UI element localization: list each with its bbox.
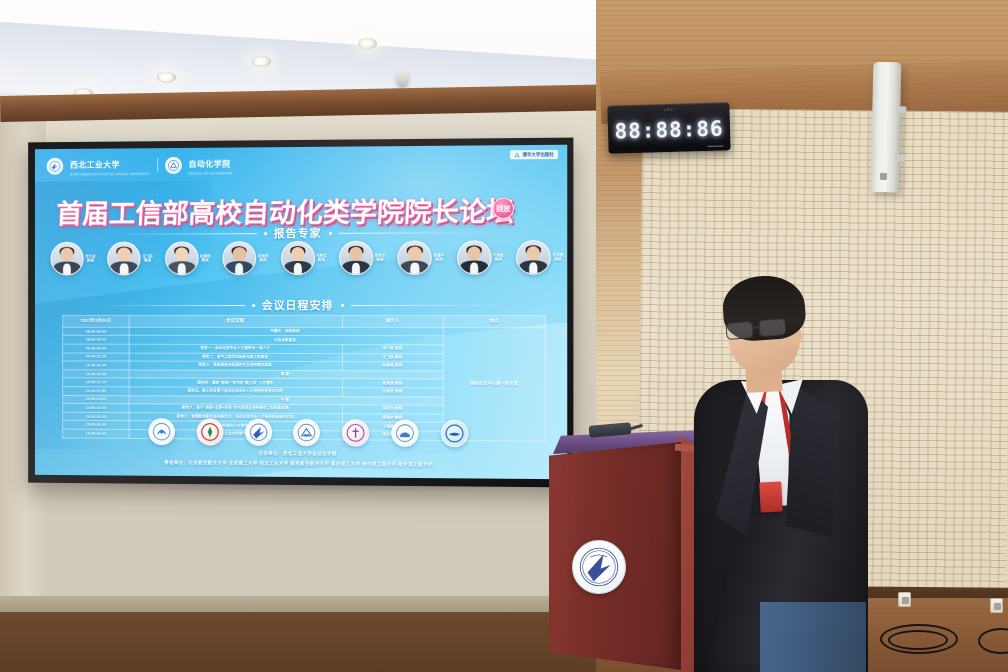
cell-time: 10:50-11:20 xyxy=(63,378,130,387)
person-badge xyxy=(759,481,783,512)
power-outlet-icon xyxy=(898,592,911,607)
divider-right xyxy=(351,304,503,305)
lens-left xyxy=(725,321,753,340)
cell-time: 11:20-11:50 xyxy=(63,387,130,396)
cell-host: 刘艳军 教授 xyxy=(342,388,443,397)
school-name-block: 自动化学院 SCHOOL OF AUTOMATION xyxy=(189,154,233,176)
divider-dot xyxy=(264,232,267,235)
divider-left xyxy=(109,233,257,235)
speaker-item: 段海滨 教授 xyxy=(223,241,270,275)
speaker-name: 刘艳军 教授 xyxy=(315,254,327,263)
divider-left xyxy=(97,305,245,306)
cell-host: 段海滨 教授 xyxy=(342,379,443,388)
school-name: 自动化学院 xyxy=(189,160,231,169)
cell-host: 赵春晖 教授 xyxy=(342,362,443,371)
led-screen-frame: 西北工业大学 NORTHWESTERN POLYTECHNICAL UNIVER… xyxy=(28,138,573,488)
divider-right xyxy=(339,232,491,234)
speaker-name: 王飞跃 教授 xyxy=(142,254,154,262)
cell-host: 李少远 教授 xyxy=(342,345,443,354)
avatar xyxy=(51,242,84,276)
speaker-item: 周东华 教授 xyxy=(339,241,386,275)
cell-time: 15:30-16:00 xyxy=(63,429,130,438)
cell-time: 09:40-10:10 xyxy=(63,353,130,362)
speaker-item: 杨慧中 教授 xyxy=(398,240,446,274)
table-header-row: 2023年3月25日 会议议程 报告人 地点 xyxy=(63,315,546,327)
speaker-name: 杨慧中 教授 xyxy=(433,253,445,262)
speakers-row: 李少远 教授 王飞跃 教授 xyxy=(51,240,565,275)
power-outlet-icon xyxy=(990,598,1003,613)
university-logo-6 xyxy=(391,420,418,447)
speaker-name: 周东华 教授 xyxy=(374,253,386,262)
university-name-en: NORTHWESTERN POLYTECHNICAL UNIVERSITY xyxy=(70,172,150,177)
col-header-content: 会议议程 xyxy=(129,315,342,327)
avatar xyxy=(457,240,492,274)
conference-hall-photo: LED 88:88:86 西北工业大学 NORTHWESTERN POLYTEC… xyxy=(0,0,1008,672)
lens-right xyxy=(758,318,786,337)
cell-time: 10:40-10:50 xyxy=(63,370,130,379)
speaker-name: 李少远 教授 xyxy=(85,254,97,262)
speaker-person xyxy=(690,276,875,672)
sponsor-logo-row xyxy=(148,418,468,447)
university-logo-3 xyxy=(245,419,272,446)
university-logo-1 xyxy=(148,418,175,445)
divider-dot xyxy=(329,231,332,234)
column-speaker-icon xyxy=(871,62,902,193)
university-name: 西北工业大学 xyxy=(70,160,120,169)
cell-time: 14:30-15:00 xyxy=(63,412,130,421)
col-header-host: 报告人 xyxy=(342,316,443,328)
university-logo-2 xyxy=(197,418,224,445)
speaker-item: 于海斌 教授 xyxy=(457,240,505,274)
agenda-heading: 会议日程安排 xyxy=(262,297,334,313)
col-header-venue: 地点 xyxy=(443,316,545,328)
cell-time: 11:50-14:00 xyxy=(63,395,130,404)
downlight-icon xyxy=(252,56,271,67)
avatar xyxy=(165,241,199,275)
university-logo-7 xyxy=(441,420,468,447)
avatar xyxy=(281,241,315,275)
logo-divider xyxy=(157,158,158,172)
col-header-date: 2023年3月25日 xyxy=(63,315,130,327)
speaker-item: 赵春晖 教授 xyxy=(165,241,211,275)
replay-badge: 回放 xyxy=(493,198,514,219)
cell-host: 王飞跃 教授 xyxy=(342,353,443,362)
speaker-name: 段海滨 教授 xyxy=(257,254,269,263)
coiled-cable-icon xyxy=(888,630,948,650)
speaker-name: 赵春晖 教授 xyxy=(199,254,211,262)
nwpu-emblem-icon xyxy=(47,157,64,174)
speaker-item: 刘艳军 教授 xyxy=(281,241,328,275)
speaker-item: 李少远 教授 xyxy=(51,242,97,276)
speaker-item: 李华德 教授 xyxy=(516,240,564,275)
divider-dot xyxy=(341,303,344,306)
clock-digits: 88:88:86 xyxy=(614,116,724,143)
avatar xyxy=(339,241,373,275)
avatar xyxy=(398,241,432,275)
speaker-mount-bottom xyxy=(895,154,905,161)
led-clock: LED 88:88:86 xyxy=(607,102,730,153)
cell-content: 开幕式：领导致辞 xyxy=(129,327,443,336)
clock-brand-label: LED xyxy=(664,107,673,112)
downlight-icon xyxy=(358,38,377,49)
speakers-heading: 报告专家 xyxy=(274,225,322,241)
clock-foot xyxy=(708,145,724,147)
publisher-badge: 清华大学出版社 xyxy=(510,150,558,159)
publisher-badge-label: 清华大学出版社 xyxy=(522,151,553,157)
cell-time: 09:00-09:10 xyxy=(63,336,130,345)
cell-time: 14:00-14:30 xyxy=(63,404,130,413)
led-screen-display: 西北工业大学 NORTHWESTERN POLYTECHNICAL UNIVER… xyxy=(35,145,567,480)
avatar xyxy=(516,240,551,275)
downlight-icon xyxy=(157,72,176,83)
speaker-brand-badge xyxy=(880,173,887,180)
speaker-name: 于海斌 教授 xyxy=(492,253,504,262)
university-logo-4 xyxy=(293,419,320,446)
screen-logo-row: 西北工业大学 NORTHWESTERN POLYTECHNICAL UNIVER… xyxy=(47,151,557,177)
publisher-logo-icon xyxy=(514,152,520,158)
speaker-item: 王飞跃 教授 xyxy=(108,242,154,276)
divider-dot xyxy=(252,304,255,307)
university-name-block: 西北工业大学 NORTHWESTERN POLYTECHNICAL UNIVER… xyxy=(70,154,150,176)
school-emblem-icon xyxy=(165,156,182,173)
agenda-table-head: 2023年3月25日 会议议程 报告人 地点 xyxy=(63,315,546,327)
speaker-mount-top xyxy=(896,106,906,113)
school-name-en: SCHOOL OF AUTOMATION xyxy=(189,171,233,175)
person-jeans xyxy=(760,602,866,672)
speaker-name: 李华德 教授 xyxy=(552,253,564,262)
cell-time: 09:10-09:40 xyxy=(63,344,130,353)
floor-left xyxy=(0,612,600,672)
dome-sensor-icon xyxy=(396,68,409,87)
avatar xyxy=(223,241,257,275)
agenda-section-header: 会议日程安排 xyxy=(35,297,567,313)
screen-header: 西北工业大学 NORTHWESTERN POLYTECHNICAL UNIVER… xyxy=(35,145,567,177)
cell-time: 10:10-10:40 xyxy=(63,361,130,370)
university-logo-5 xyxy=(342,419,369,446)
speakers-section-header: 报告专家 xyxy=(35,224,567,242)
avatar xyxy=(108,242,141,276)
cell-time: 08:30-09:00 xyxy=(63,327,130,336)
